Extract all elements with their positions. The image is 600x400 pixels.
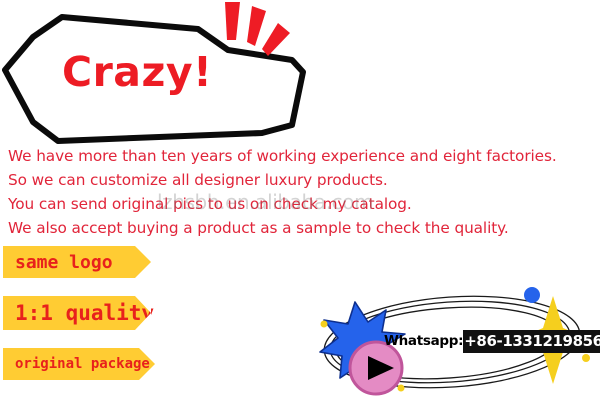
yellow-dot-icon-bottom <box>398 385 405 392</box>
copy-line-1: We have more than ten years of working e… <box>8 144 592 168</box>
copy-line-2: So we can customize all designer luxury … <box>8 168 592 192</box>
yellow-dot-icon-left <box>321 321 328 328</box>
exclaim-wedge-icon-2 <box>247 6 266 46</box>
whatsapp-label: Whatsapp: <box>384 333 463 349</box>
exclaim-wedge-icon-1 <box>225 2 240 40</box>
whatsapp-contact[interactable]: Whatsapp: +86-13312198565 <box>384 331 600 351</box>
whatsapp-number[interactable]: +86-13312198565 <box>463 330 600 353</box>
ribbon-original-package: original package <box>3 348 155 380</box>
ribbon-same-logo: same logo <box>3 246 151 278</box>
copy-line-3: You can send original pics to us on chec… <box>8 192 592 216</box>
copy-line-4: We also accept buying a product as a sam… <box>8 216 592 240</box>
contact-cluster: Whatsapp: +86-13312198565 <box>300 280 600 400</box>
page-title: Crazy! <box>62 44 262 100</box>
body-copy-block: We have more than ten years of working e… <box>8 144 592 240</box>
ribbon-label-same-logo: same logo <box>3 252 113 273</box>
promo-banner-canvas: Crazy! We have more than ten years of wo… <box>0 0 600 400</box>
crazy-headline-badge: Crazy! <box>0 0 320 148</box>
ribbon-notch-icon <box>135 246 151 278</box>
ribbon-quality: 1:1 quality <box>3 296 151 330</box>
ribbon-label-package: original package <box>3 356 150 372</box>
yellow-dot-icon-right <box>582 354 590 362</box>
exclaim-wedge-icon-3 <box>262 23 290 56</box>
blue-dot-icon <box>524 287 540 303</box>
ribbon-label-quality: 1:1 quality <box>3 301 154 325</box>
